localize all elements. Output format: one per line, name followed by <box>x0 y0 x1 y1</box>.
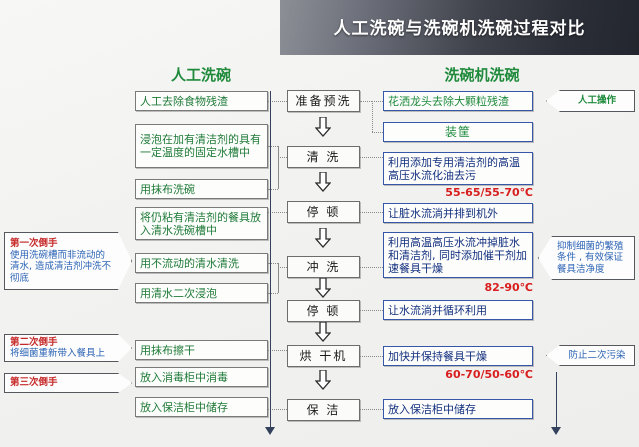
manual-step-label: 用清水二次浸泡 <box>140 287 263 300</box>
manual-step-label: 人工去除食物残渣 <box>140 95 263 108</box>
machine-step-box[interactable]: 让脏水流淌并排到机外 <box>383 203 533 223</box>
callout-line: 防止二次污染 <box>568 350 625 362</box>
machine-step-label: 放入保洁柜中储存 <box>388 403 528 416</box>
callout-line: 人工操作 <box>578 95 616 107</box>
process-stage-box[interactable]: 清 洗 <box>287 146 360 168</box>
callout-line: 抑制细菌的繁殖 <box>557 241 624 253</box>
flow-arrow-tip-icon <box>551 427 561 435</box>
connector-line <box>360 310 383 311</box>
callout-title: 第一次倒手 <box>10 238 58 250</box>
manual-step-label: 将仍粘有清洁剂的餐具放入清水洗碗槽中 <box>140 211 263 237</box>
connector-line <box>372 101 373 132</box>
manual-step-label: 放入保洁柜中储存 <box>140 401 263 414</box>
manual-step-box[interactable]: 用抹布擦干 <box>135 340 268 360</box>
machine-step-label: 花洒龙头去除大颗粒残渣 <box>388 95 528 108</box>
manual-step-box[interactable]: 人工去除食物残渣 <box>135 91 268 111</box>
process-stage-label: 保 洁 <box>292 404 355 417</box>
connector-line <box>372 132 383 133</box>
connector-line <box>372 101 383 102</box>
machine-step-label: 利用添加专用清洁剂的高温高压水流化油去污 <box>388 156 528 182</box>
process-stage-box[interactable]: 停 顿 <box>287 201 360 223</box>
connector-line <box>360 267 383 268</box>
machine-step-label: 让脏水流淌并排到机外 <box>388 207 528 220</box>
connector-line <box>278 157 287 158</box>
callout-body: 将细菌重新带入餐具上 <box>10 348 105 360</box>
diagram-canvas: 人工洗碗与洗碗机洗碗过程对比 人工洗碗 洗碗机洗碗 人工去除食物残渣 浸泡在加有… <box>0 0 639 447</box>
manual-step-box[interactable]: 用清水二次浸泡 <box>135 283 268 303</box>
manual-step-label: 用抹布擦干 <box>140 344 263 357</box>
process-stage-box[interactable]: 冲 洗 <box>287 256 360 278</box>
down-arrow-icon <box>315 117 331 137</box>
manual-step-box[interactable]: 放入消毒柜中消毒 <box>135 367 268 387</box>
process-stage-label: 停 顿 <box>292 206 355 219</box>
machine-step-label: 让水流淌并循环利用 <box>388 304 528 317</box>
manual-step-box[interactable]: 将仍粘有清洁剂的餐具放入清水洗碗槽中 <box>135 207 268 240</box>
connector-line <box>360 101 372 102</box>
manual-step-box[interactable]: 用不流动的清水清洗 <box>135 253 268 273</box>
flow-arrow-tip-icon <box>265 427 275 435</box>
machine-note-callout[interactable]: 抑制细菌的繁殖 条件 , 有效保证 餐具洁净度 <box>538 236 635 280</box>
manual-step-box[interactable]: 放入保洁柜中储存 <box>135 397 268 417</box>
down-arrow-icon <box>315 228 331 248</box>
process-stage-label: 清 洗 <box>292 151 355 164</box>
temperature-label: 55-65/55-70℃ <box>403 186 533 199</box>
manual-step-label: 用抹布洗碗 <box>140 183 263 196</box>
manual-step-label: 用不流动的清水清洗 <box>140 257 263 270</box>
machine-step-label: 利用高温高压水流冲掉脏水和清洁剂, 同时添加催干剂加速餐具干燥 <box>388 236 528 275</box>
column-heading-machine: 洗碗机洗碗 <box>408 64 556 85</box>
flow-rail <box>556 372 557 429</box>
machine-step-label: 加快并保持餐具干燥 <box>388 350 528 363</box>
callout-body: 使用洗碗槽而非流动的清水, 造成清洁剂冲洗不彻底 <box>10 250 113 285</box>
machine-step-box[interactable]: 装筐 <box>383 122 533 142</box>
machine-step-box[interactable]: 利用添加专用清洁剂的高温高压水流化油去污 <box>383 152 533 185</box>
connector-line <box>360 409 383 410</box>
down-arrow-icon <box>315 370 331 390</box>
manual-step-box[interactable]: 用抹布洗碗 <box>135 179 268 199</box>
column-heading-manual: 人工洗碗 <box>135 64 267 85</box>
callout-title: 第二次倒手 <box>10 337 58 349</box>
hand-transfer-callout[interactable]: 第一次倒手 使用洗碗槽而非流动的清水, 造成清洁剂冲洗不彻底 <box>4 232 132 290</box>
process-stage-box[interactable]: 停 顿 <box>287 300 360 322</box>
machine-note-callout[interactable]: 防止二次污染 <box>546 345 635 366</box>
manual-step-label: 放入消毒柜中消毒 <box>140 371 263 384</box>
machine-step-box[interactable]: 花洒龙头去除大颗粒残渣 <box>383 91 533 111</box>
process-stage-box[interactable]: 保 洁 <box>287 399 360 421</box>
process-stage-label: 准备预洗 <box>292 95 355 108</box>
manual-step-box[interactable]: 浸泡在加有清洁剂的具有一定温度的固定水槽中 <box>135 124 268 168</box>
down-arrow-icon <box>315 172 331 192</box>
hand-transfer-callout[interactable]: 第二次倒手 将细菌重新带入餐具上 <box>4 334 132 362</box>
down-arrow-icon <box>315 322 331 342</box>
connector-line <box>360 356 383 357</box>
callout-title: 第三次倒手 <box>10 377 58 389</box>
connector-line <box>360 212 383 213</box>
down-arrow-icon <box>315 278 331 298</box>
process-stage-label: 冲 洗 <box>292 261 355 274</box>
connector-line <box>278 146 279 189</box>
flow-rail <box>270 91 271 429</box>
machine-note-callout[interactable]: 人工操作 <box>546 90 635 112</box>
manual-step-label: 浸泡在加有清洁剂的具有一定温度的固定水槽中 <box>140 133 263 159</box>
process-stage-box[interactable]: 烘 干机 <box>287 345 360 367</box>
callout-line: 条件 , 有效保证 <box>557 252 623 264</box>
machine-step-box[interactable]: 利用高温高压水流冲掉脏水和清洁剂, 同时添加催干剂加速餐具干燥 <box>383 232 533 278</box>
connector-line <box>278 267 287 268</box>
process-stage-label: 烘 干机 <box>292 350 355 363</box>
process-stage-label: 停 顿 <box>292 305 355 318</box>
machine-step-box[interactable]: 放入保洁柜中储存 <box>383 399 533 419</box>
process-stage-box[interactable]: 准备预洗 <box>287 90 360 112</box>
machine-step-box[interactable]: 让水流淌并循环利用 <box>383 300 533 320</box>
callout-line: 餐具洁净度 <box>557 264 605 276</box>
machine-step-label: 装筐 <box>388 126 528 139</box>
hand-transfer-callout[interactable]: 第三次倒手 <box>4 373 132 393</box>
page-title: 人工洗碗与洗碗机洗碗过程对比 <box>280 14 639 39</box>
temperature-label: 60-70/50-60℃ <box>403 368 533 381</box>
connector-line <box>360 157 383 158</box>
temperature-label: 82-90℃ <box>403 281 533 294</box>
machine-step-box[interactable]: 加快并保持餐具干燥 <box>383 346 533 366</box>
